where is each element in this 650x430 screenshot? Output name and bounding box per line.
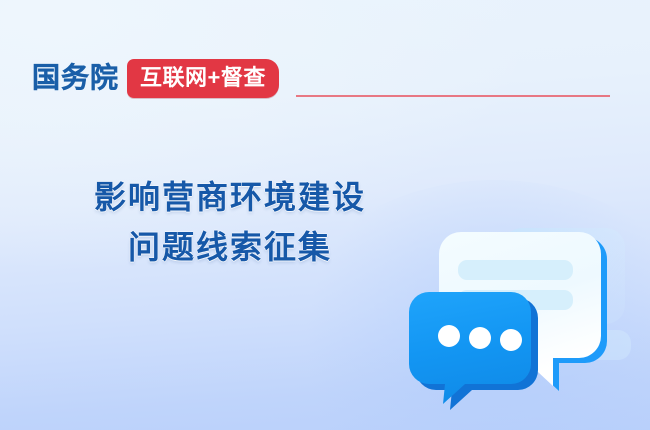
header-divider-rule xyxy=(296,95,610,97)
page-title-line-2: 问题线索征集 xyxy=(60,222,400,272)
organization-label: 国务院 xyxy=(32,64,119,92)
page-title: 影响营商环境建设 问题线索征集 xyxy=(60,172,400,272)
banner-root: 国务院 互联网+督查 影响营商环境建设 问题线索征集 xyxy=(0,0,650,430)
front-chat-bubble xyxy=(409,292,538,410)
chat-bubbles-illustration xyxy=(395,210,640,410)
program-badge: 互联网+督查 xyxy=(127,59,279,98)
page-title-line-1: 影响营商环境建设 xyxy=(60,172,400,222)
header-lockup: 国务院 互联网+督查 xyxy=(32,58,279,98)
